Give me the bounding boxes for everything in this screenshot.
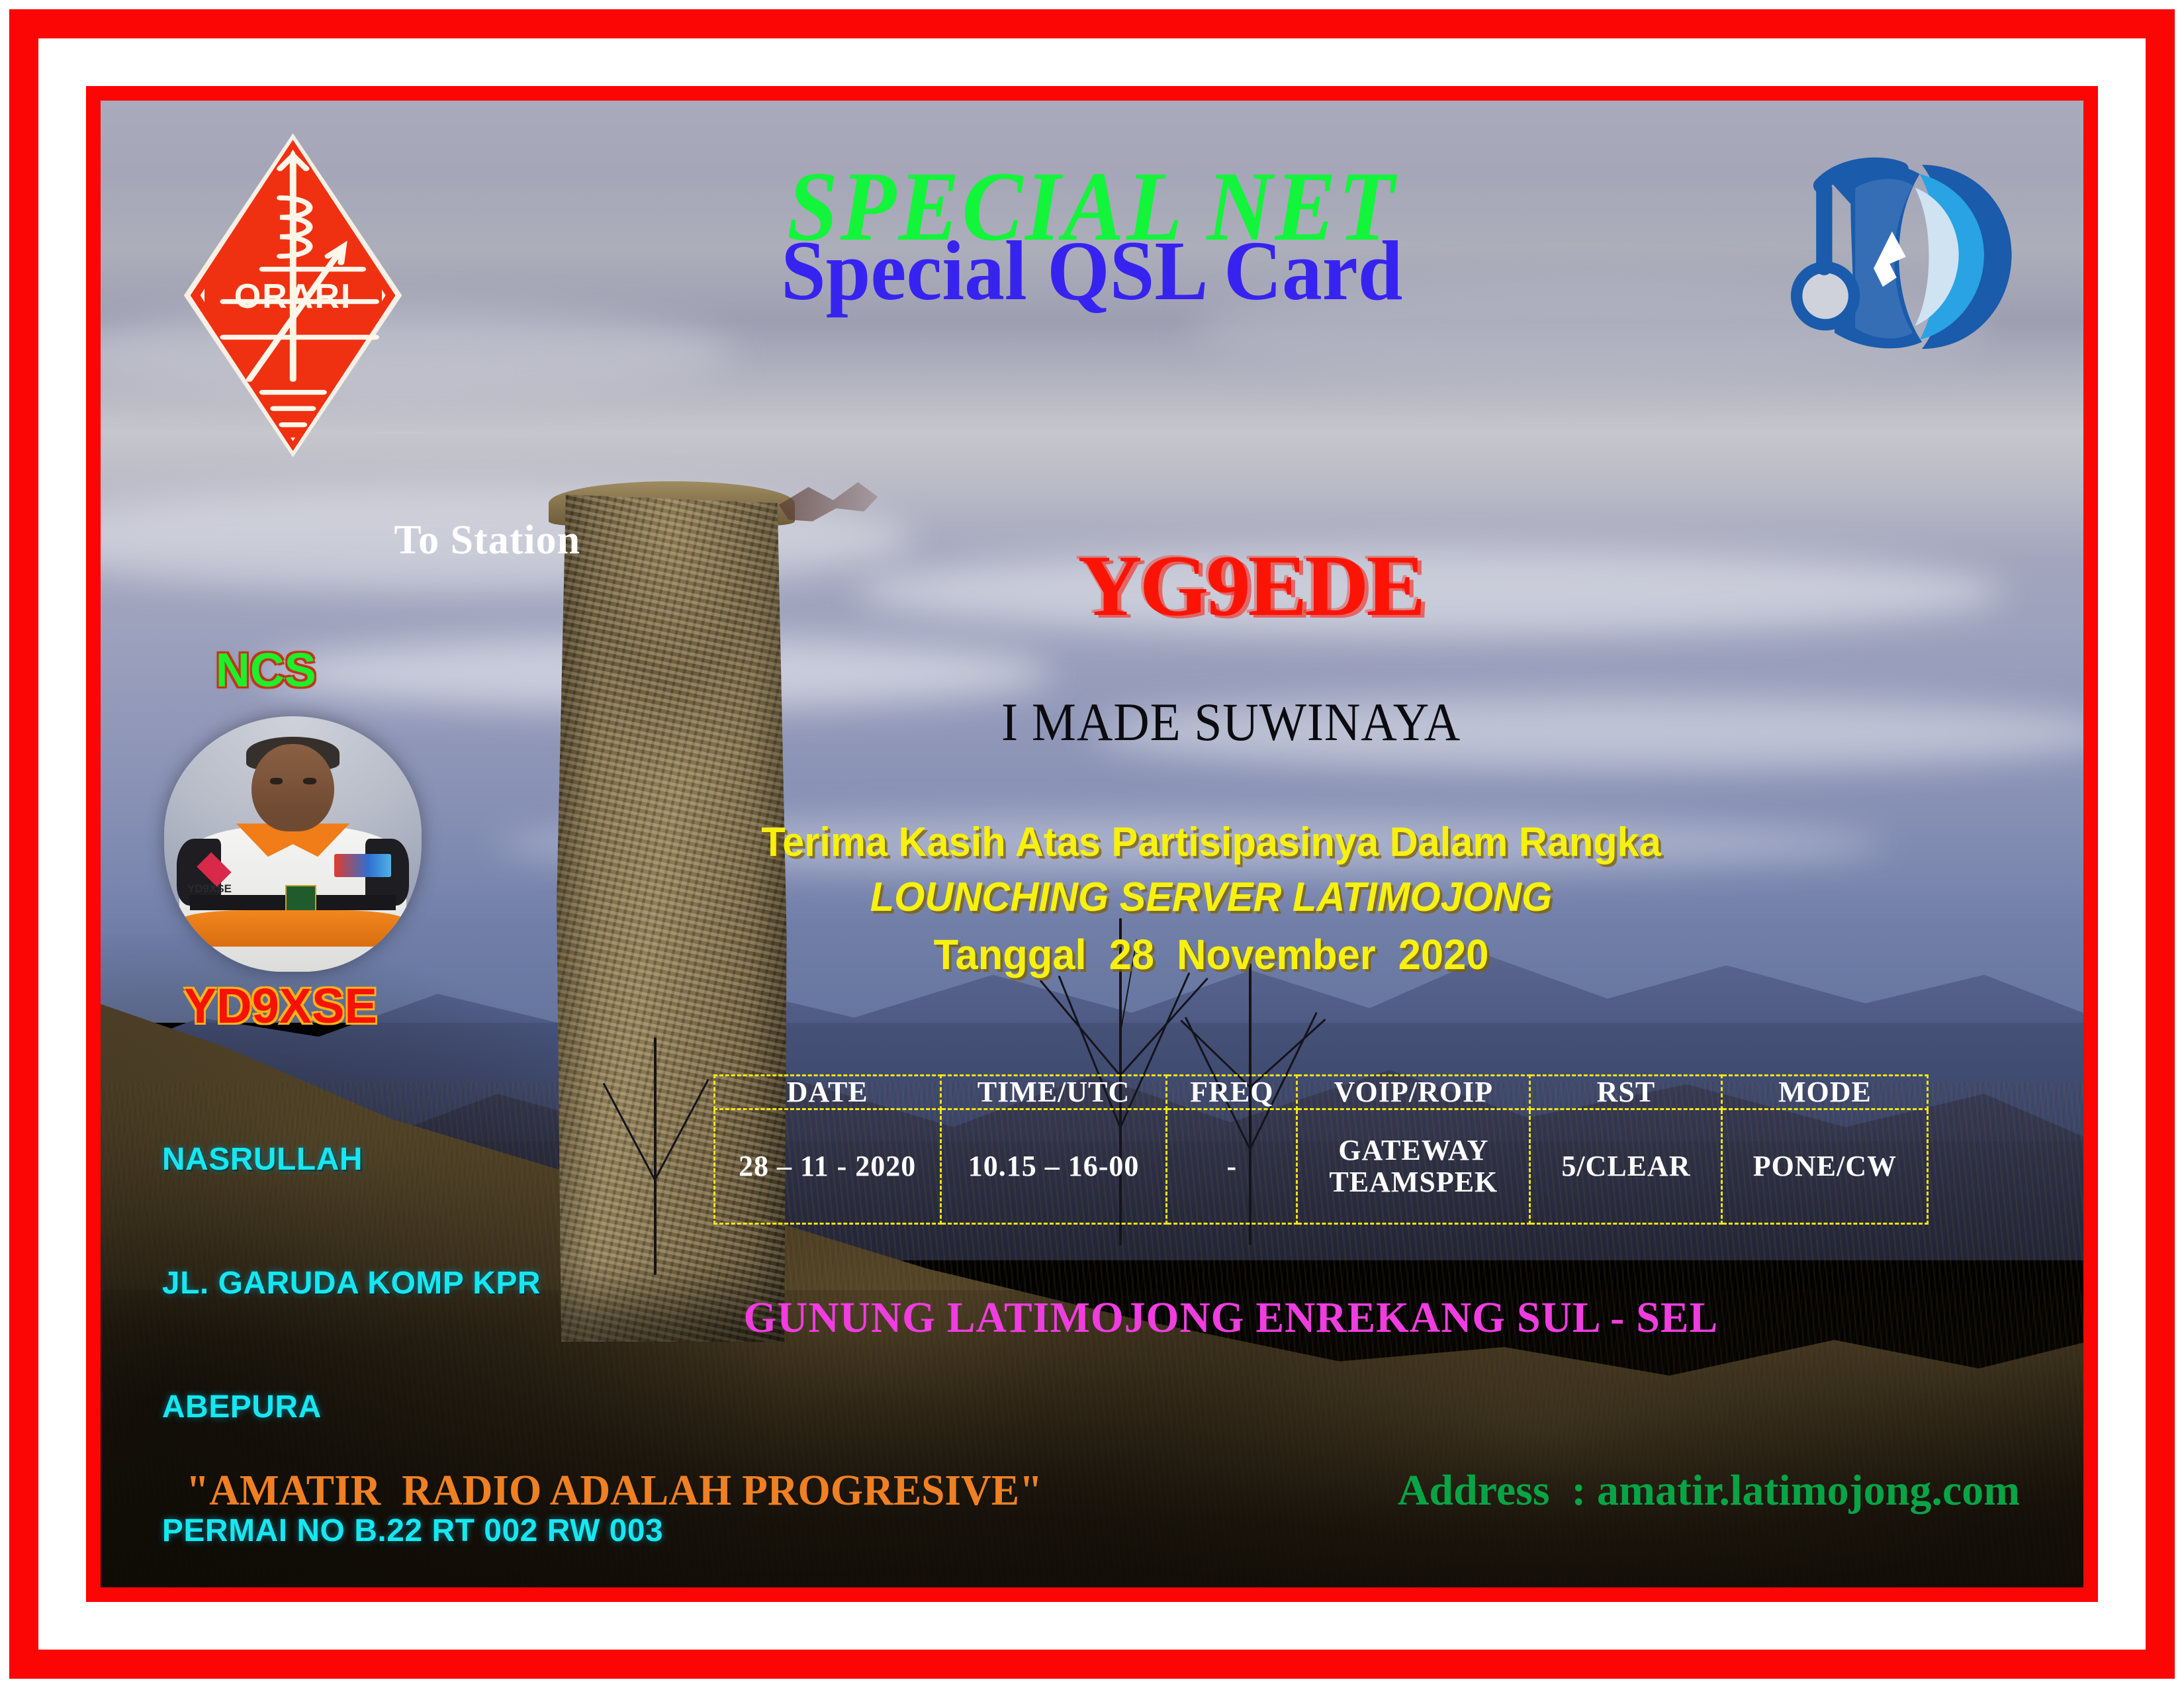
column-header-time: TIME/UTC [940, 1076, 1167, 1109]
photo-eye-right [303, 778, 316, 784]
table-row: 28 – 11 - 2020 10.15 – 16-00 - GATEWAY T… [714, 1109, 1928, 1223]
address-line: JL. GARUDA KOMP KPR [162, 1263, 663, 1304]
cell-date: 28 – 11 - 2020 [714, 1109, 940, 1223]
location-caption: GUNUNG LATIMOJONG ENREKANG SUL - SEL [673, 1293, 1789, 1343]
cell-time: 10.15 – 16-00 [940, 1109, 1167, 1223]
thanks-line-2: LOUNCHING SERVER LATIMOJONG [754, 874, 1668, 921]
qso-details-table: DATE TIME/UTC FREQ VOIP/ROIP RST MODE 28… [713, 1074, 1929, 1225]
website-address: Address : amatir.latimojong.com [1398, 1466, 2020, 1516]
thanks-line-1: Terima Kasih Atas Partisipasinya Dalam R… [754, 819, 1668, 866]
ncs-callsign: YD9XSE [184, 978, 377, 1034]
cell-rst: 5/CLEAR [1530, 1109, 1722, 1223]
photo-sash [179, 910, 406, 946]
headset-profile-logo-icon [1786, 133, 2017, 379]
orari-logo: ORARI [184, 133, 402, 457]
operator-photo: YD9XSE [164, 716, 422, 972]
card-outer-border: ORARI [9, 9, 2175, 1679]
thanks-line-3: Tanggal 28 November 2020 [754, 930, 1668, 979]
station-callsign: YG9EDE [907, 542, 1594, 630]
cell-mode: PONE/CW [1722, 1109, 1928, 1223]
column-header-mode: MODE [1722, 1076, 1928, 1109]
address-line: NASRULLAH [162, 1139, 663, 1180]
mailing-address: NASRULLAH JL. GARUDA KOMP KPR ABEPURA PE… [162, 1056, 663, 1602]
card-inner-border: ORARI [86, 86, 2098, 1602]
cell-freq: - [1167, 1109, 1297, 1223]
orari-wordmark: ORARI [214, 279, 371, 314]
address-line: PERMAI NO B.22 RT 002 RW 003 [162, 1511, 663, 1552]
column-header-freq: FREQ [1167, 1076, 1297, 1109]
qsl-card: ORARI [0, 0, 2184, 1688]
card-content: ORARI [101, 101, 2083, 1587]
photo-face [251, 744, 334, 831]
cell-voip: GATEWAY TEAMSPEK [1297, 1109, 1530, 1223]
photo-eye-left [270, 778, 283, 784]
column-header-rst: RST [1530, 1076, 1722, 1109]
page-subtitle: Special QSL Card [508, 228, 1676, 313]
motto-text: "AMATIR RADIO ADALAH PROGRESIVE" [186, 1466, 1042, 1516]
to-station-label: To Station [394, 517, 580, 564]
photo-callsign-embroidery: YD9XSE [187, 882, 232, 896]
column-header-date: DATE [714, 1076, 940, 1109]
operator-name: I MADE SUWINAYA [821, 695, 1641, 749]
column-header-voip: VOIP/ROIP [1297, 1076, 1530, 1109]
ncs-label: NCS [216, 643, 316, 698]
photo-chest-logo [334, 854, 391, 877]
address-line: ABEPURA [162, 1387, 663, 1428]
table-header-row: DATE TIME/UTC FREQ VOIP/ROIP RST MODE [714, 1076, 1928, 1109]
